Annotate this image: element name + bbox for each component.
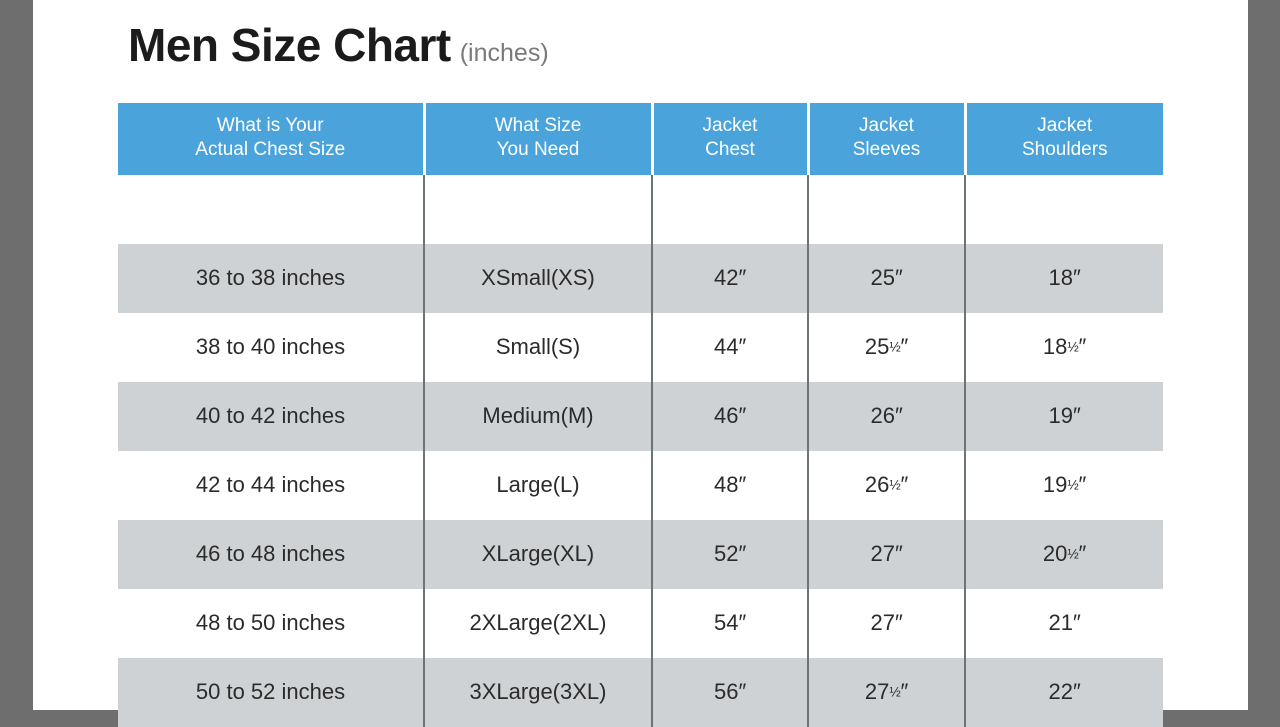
cell-jacket-sleeves: 27″ (808, 589, 965, 658)
column-header-jacket-chest: Jacket Chest (652, 103, 808, 175)
header-line-2: Actual Chest Size (195, 139, 345, 160)
slide-canvas: Men Size Chart (inches) What is Your Act… (33, 0, 1248, 710)
cell-jacket-shoulders: 18½″ (965, 313, 1163, 382)
cell-actual-chest-size: 40 to 42 inches (118, 382, 424, 451)
cell-jacket-sleeves: 27½″ (808, 658, 965, 727)
table-row: 50 to 52 inches3XLarge(3XL)56″27½″22″ (118, 658, 1163, 727)
cell-jacket-chest: 48″ (652, 451, 808, 520)
header-line-2: Chest (705, 139, 755, 160)
column-header-jacket-shoulders: Jacket Shoulders (965, 103, 1163, 175)
table-row: 40 to 42 inchesMedium(M)46″26″19″ (118, 382, 1163, 451)
letterbox-right (1248, 0, 1280, 710)
cell-size-you-need: XLarge(XL) (424, 520, 652, 589)
size-chart-table: What is Your Actual Chest Size What Size… (118, 103, 1163, 727)
cell-actual-chest-size: 36 to 38 inches (118, 244, 424, 313)
cell-jacket-sleeves: 26″ (808, 382, 965, 451)
column-header-actual-chest-size: What is Your Actual Chest Size (118, 103, 424, 175)
cell-jacket-chest: 54″ (652, 589, 808, 658)
cell-jacket-chest: 46″ (652, 382, 808, 451)
cell-jacket-shoulders: 18″ (965, 244, 1163, 313)
cell-size-you-need: Small(S) (424, 313, 652, 382)
header-line-1: What is Your (217, 115, 324, 136)
cell-jacket-sleeves: 27″ (808, 520, 965, 589)
table-row: 36 to 38 inchesXSmall(XS)42″25″18″ (118, 244, 1163, 313)
page-title: Men Size Chart (inches) (128, 22, 549, 68)
table-row: 46 to 48 inchesXLarge(XL)52″27″20½″ (118, 520, 1163, 589)
cell-jacket-chest: 56″ (652, 658, 808, 727)
cell-jacket-shoulders: 19″ (965, 382, 1163, 451)
page-title-unit: (inches) (460, 41, 549, 66)
cell-jacket-chest: 42″ (652, 244, 808, 313)
cell-actual-chest-size: 38 to 40 inches (118, 313, 424, 382)
cell-jacket-shoulders: 21″ (965, 589, 1163, 658)
header-line-1: Jacket (1037, 115, 1092, 136)
header-line-1: Jacket (703, 115, 758, 136)
header-line-2: You Need (497, 139, 580, 160)
cell-size-you-need: Large(L) (424, 451, 652, 520)
cell-actual-chest-size: 42 to 44 inches (118, 451, 424, 520)
cell-size-you-need: 2XLarge(2XL) (424, 589, 652, 658)
cell-size-you-need: Medium(M) (424, 382, 652, 451)
cell-size-you-need: XSmall(XS) (424, 244, 652, 313)
column-header-jacket-sleeves: Jacket Sleeves (808, 103, 965, 175)
table-row: 48 to 50 inches2XLarge(2XL)54″27″21″ (118, 589, 1163, 658)
cell-jacket-sleeves: 25½″ (808, 313, 965, 382)
cell-actual-chest-size: 46 to 48 inches (118, 520, 424, 589)
header-line-2: Sleeves (853, 139, 921, 160)
table-header: What is Your Actual Chest Size What Size… (118, 103, 1163, 175)
header-body-spacer (118, 175, 1163, 244)
cell-jacket-shoulders: 20½″ (965, 520, 1163, 589)
column-header-size-you-need: What Size You Need (424, 103, 652, 175)
table-row: 38 to 40 inchesSmall(S)44″25½″18½″ (118, 313, 1163, 382)
cell-jacket-chest: 44″ (652, 313, 808, 382)
table-body: 36 to 38 inchesXSmall(XS)42″25″18″38 to … (118, 175, 1163, 727)
cell-actual-chest-size: 48 to 50 inches (118, 589, 424, 658)
header-line-1: What Size (495, 115, 582, 136)
cell-actual-chest-size: 50 to 52 inches (118, 658, 424, 727)
cell-size-you-need: 3XLarge(3XL) (424, 658, 652, 727)
cell-jacket-chest: 52″ (652, 520, 808, 589)
letterbox-left (0, 0, 33, 710)
cell-jacket-sleeves: 25″ (808, 244, 965, 313)
page-title-main: Men Size Chart (128, 22, 451, 68)
header-line-1: Jacket (859, 115, 914, 136)
cell-jacket-shoulders: 19½″ (965, 451, 1163, 520)
cell-jacket-sleeves: 26½″ (808, 451, 965, 520)
header-row: What is Your Actual Chest Size What Size… (118, 103, 1163, 175)
cell-jacket-shoulders: 22″ (965, 658, 1163, 727)
header-line-2: Shoulders (1022, 139, 1108, 160)
table-row: 42 to 44 inchesLarge(L)48″26½″19½″ (118, 451, 1163, 520)
